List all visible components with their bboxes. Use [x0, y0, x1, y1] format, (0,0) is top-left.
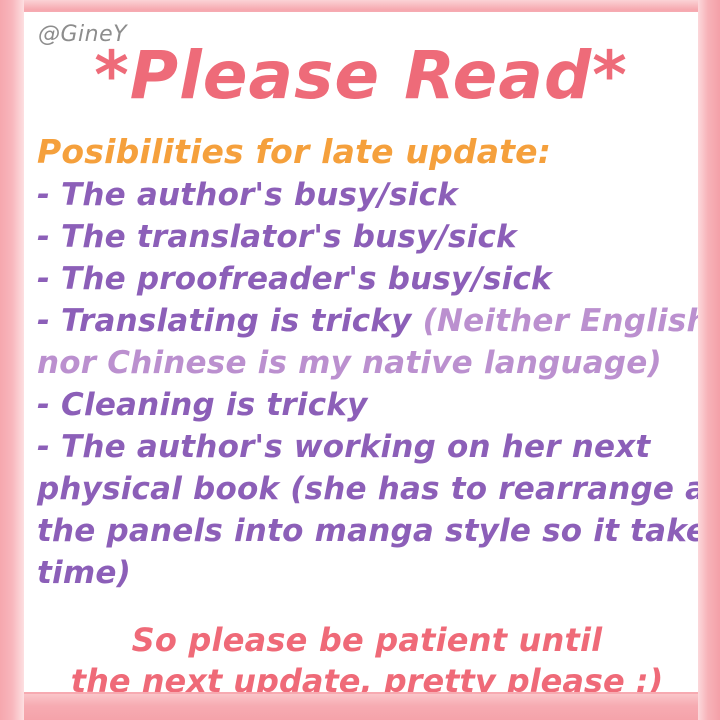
reasons-subheading: Posibilities for late update: [37, 130, 697, 174]
list-item-cont: physical book (she has to rearrange all [37, 468, 697, 510]
paper-panel: @GineY *Please Read* Posibilities for la… [24, 12, 698, 692]
list-item-cont: time) [37, 552, 697, 594]
closing-line-2: the next update, pretty please :) [37, 661, 697, 692]
closing-message: So please be patient until the next upda… [37, 620, 697, 692]
list-item: - Cleaning is tricky [37, 384, 697, 426]
list-item-cont: the panels into manga style so it takes [37, 510, 697, 552]
frame-border-bottom [0, 694, 720, 720]
page-title: *Please Read* [24, 40, 698, 112]
list-item: - Translating is tricky (Neither English [37, 300, 697, 342]
list-item-parenthetical-cont: nor Chinese is my native language) [37, 342, 697, 384]
please-read-poster: @GineY *Please Read* Posibilities for la… [0, 0, 720, 720]
list-item: - The translator's busy/sick [37, 216, 697, 258]
closing-line-1: So please be patient until [37, 620, 697, 661]
list-item-parenthetical: (Neither English [423, 303, 698, 339]
frame-border-left [0, 0, 24, 720]
reasons-list: Posibilities for late update: - The auth… [37, 130, 697, 594]
list-item: - The author's working on her next [37, 426, 697, 468]
list-item: - The proofreader's busy/sick [37, 258, 697, 300]
frame-border-right [698, 0, 720, 720]
list-item-lead: - Translating is tricky [37, 303, 423, 339]
list-item: - The author's busy/sick [37, 174, 697, 216]
